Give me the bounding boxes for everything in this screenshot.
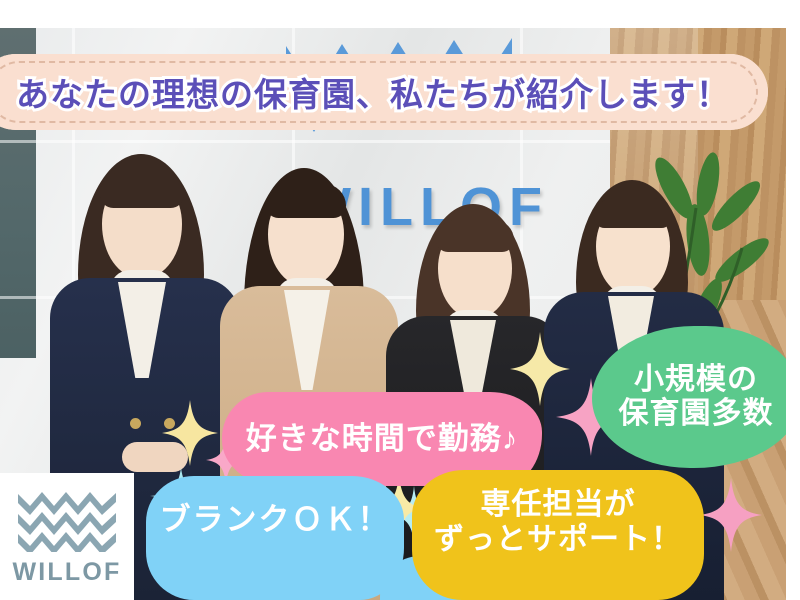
bubble-small-nursery: 小規模の 保育園多数	[592, 326, 800, 468]
bubble-line: 小規模の	[619, 363, 774, 398]
bubble-blank-ok-text: ブランクＯＫ！	[160, 502, 391, 538]
bubble-line: 保育園多数	[619, 397, 774, 432]
bubble-small-nursery-text: 小規模の 保育園多数	[619, 363, 774, 432]
bubble-line: 専任担当が	[434, 488, 682, 523]
bubble-flexible-hours-text: 好きな時間で勤務♪	[246, 421, 519, 457]
person-1-bangs	[100, 172, 184, 208]
person-2-bangs	[266, 184, 346, 218]
bubble-blank-ok: ブランクＯＫ！	[146, 476, 404, 600]
willof-zigzag-icon	[18, 490, 116, 552]
top-margin	[0, 0, 800, 28]
poster-canvas: WILLOF	[0, 0, 800, 600]
headline-banner-overlay: あなたの理想の保育園、私たちが紹介します！	[0, 54, 768, 130]
headline-text: あなたの理想の保育園、私たちが紹介します！	[16, 68, 730, 116]
person-3-bangs	[436, 220, 514, 252]
bubble-dedicated-support: 専任担当が ずっとサポート！	[412, 470, 704, 600]
person-4-bangs	[594, 198, 672, 228]
bubble-dedicated-support-text: 専任担当が ずっとサポート！	[434, 488, 682, 557]
sparkle-pink-3-icon	[700, 478, 762, 552]
bubble-line: ずっとサポート！	[434, 523, 682, 558]
willof-logo: WILLOF	[0, 473, 134, 600]
person-1-button	[130, 418, 141, 429]
willof-wordmark: WILLOF	[12, 558, 121, 587]
right-margin	[786, 0, 800, 600]
